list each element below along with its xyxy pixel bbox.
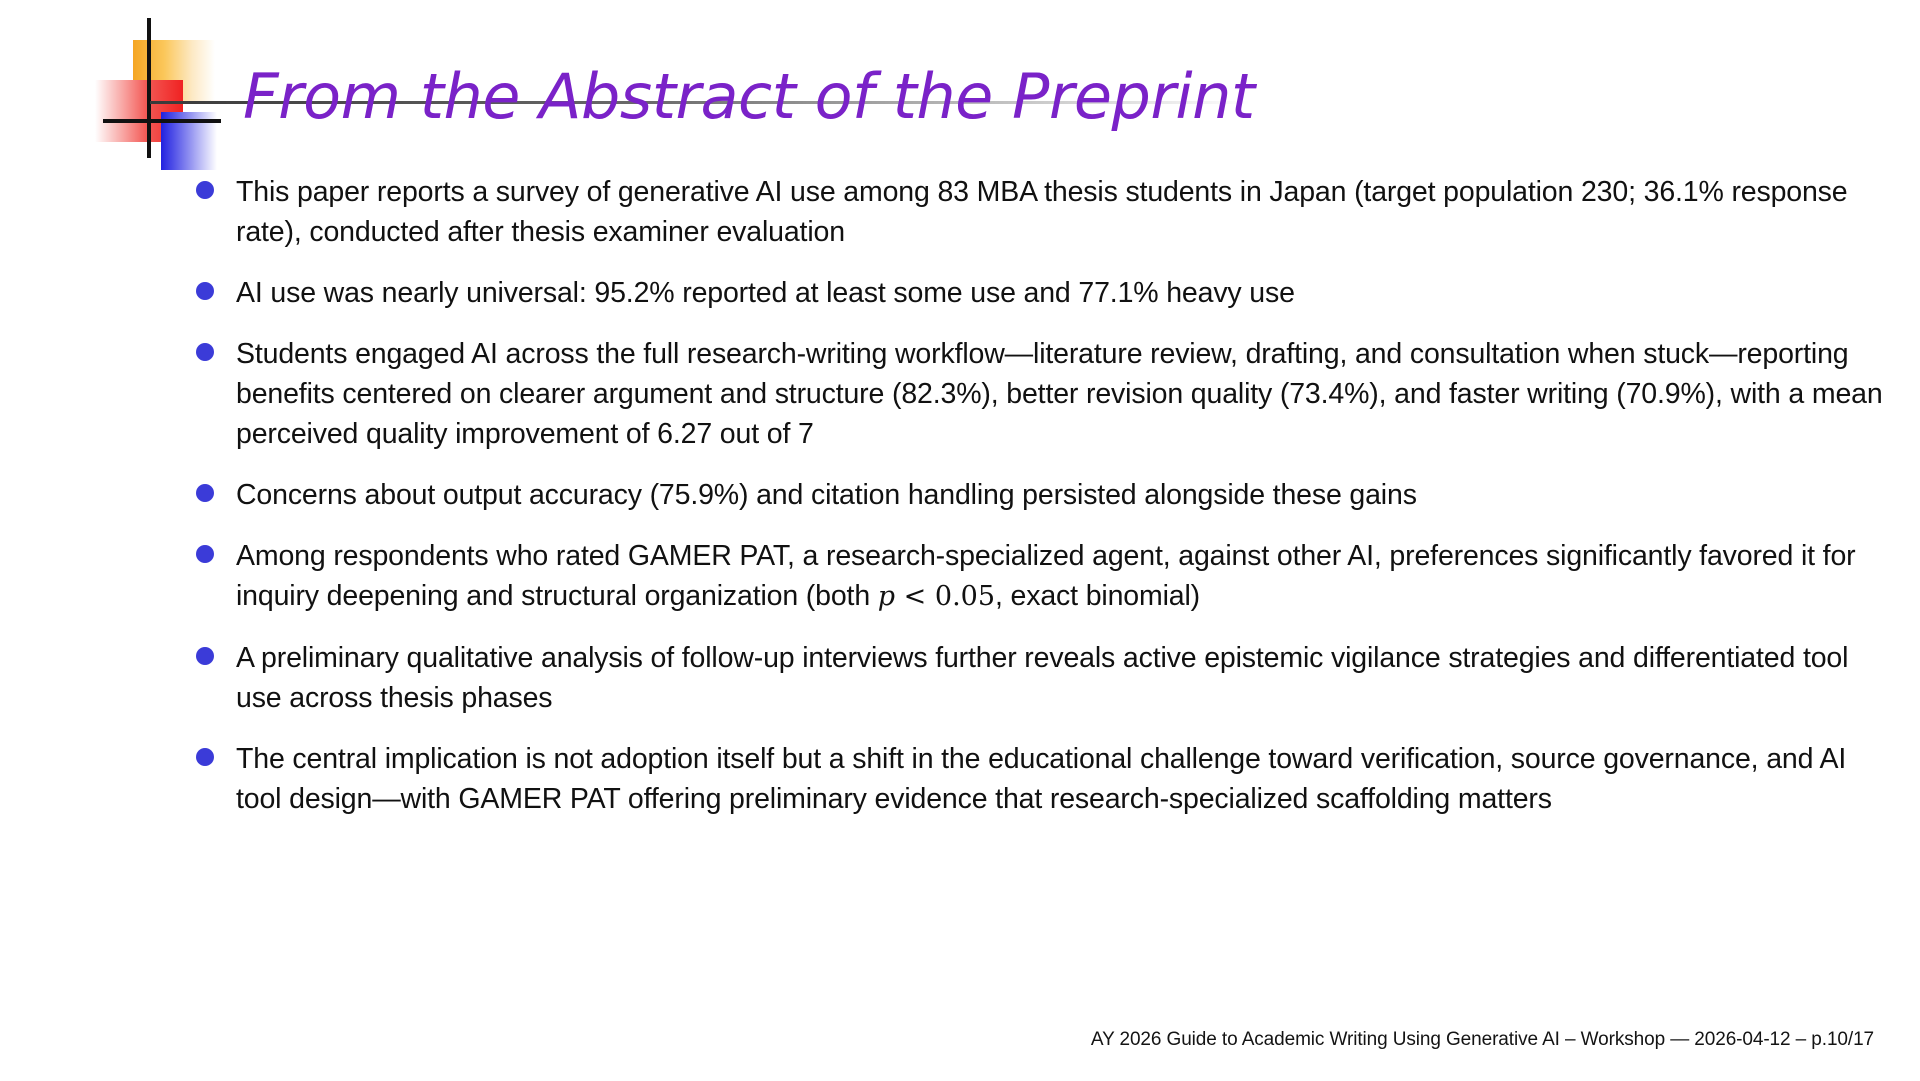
disc-bullet-icon — [196, 282, 214, 300]
disc-bullet-icon — [196, 484, 214, 502]
logo-horizontal-rule-icon — [103, 119, 221, 123]
slide-header: From the Abstract of the Preprint — [0, 0, 1920, 150]
list-item-text: This paper reports a survey of generativ… — [236, 172, 1896, 252]
list-item: A preliminary qualitative analysis of fo… — [196, 638, 1896, 718]
list-item-text: Concerns about output accuracy (75.9%) a… — [236, 475, 1896, 515]
list-item: Students engaged AI across the full rese… — [196, 334, 1896, 454]
disc-bullet-icon — [196, 748, 214, 766]
list-item: AI use was nearly universal: 95.2% repor… — [196, 273, 1896, 313]
logo-vertical-rule-icon — [147, 18, 151, 158]
list-item: This paper reports a survey of generativ… — [196, 172, 1896, 252]
page-title: From the Abstract of the Preprint — [243, 60, 1255, 133]
math-relation-less-than: < — [895, 581, 935, 612]
disc-bullet-icon — [196, 647, 214, 665]
math-variable-p: p — [878, 581, 895, 612]
list-item-text: Students engaged AI across the full rese… — [236, 334, 1896, 454]
disc-bullet-icon — [196, 343, 214, 361]
list-item: Concerns about output accuracy (75.9%) a… — [196, 475, 1896, 515]
slide-canvas: From the Abstract of the Preprint This p… — [0, 0, 1920, 1081]
list-item-text: AI use was nearly universal: 95.2% repor… — [236, 273, 1896, 313]
list-item-text: The central implication is not adoption … — [236, 739, 1896, 819]
list-item-text: Among respondents who rated GAMER PAT, a… — [236, 536, 1896, 617]
disc-bullet-icon — [196, 181, 214, 199]
math-value: 0.05 — [935, 581, 995, 612]
slide-footer: AY 2026 Guide to Academic Writing Using … — [1091, 1029, 1874, 1051]
decorative-logo — [95, 18, 225, 158]
list-item-text-suffix: , exact binomial) — [995, 580, 1200, 612]
disc-bullet-icon — [196, 545, 214, 563]
list-item-text: A preliminary qualitative analysis of fo… — [236, 638, 1896, 718]
list-item: Among respondents who rated GAMER PAT, a… — [196, 536, 1896, 617]
list-item: The central implication is not adoption … — [196, 739, 1896, 819]
bullet-list: This paper reports a survey of generativ… — [196, 172, 1896, 840]
